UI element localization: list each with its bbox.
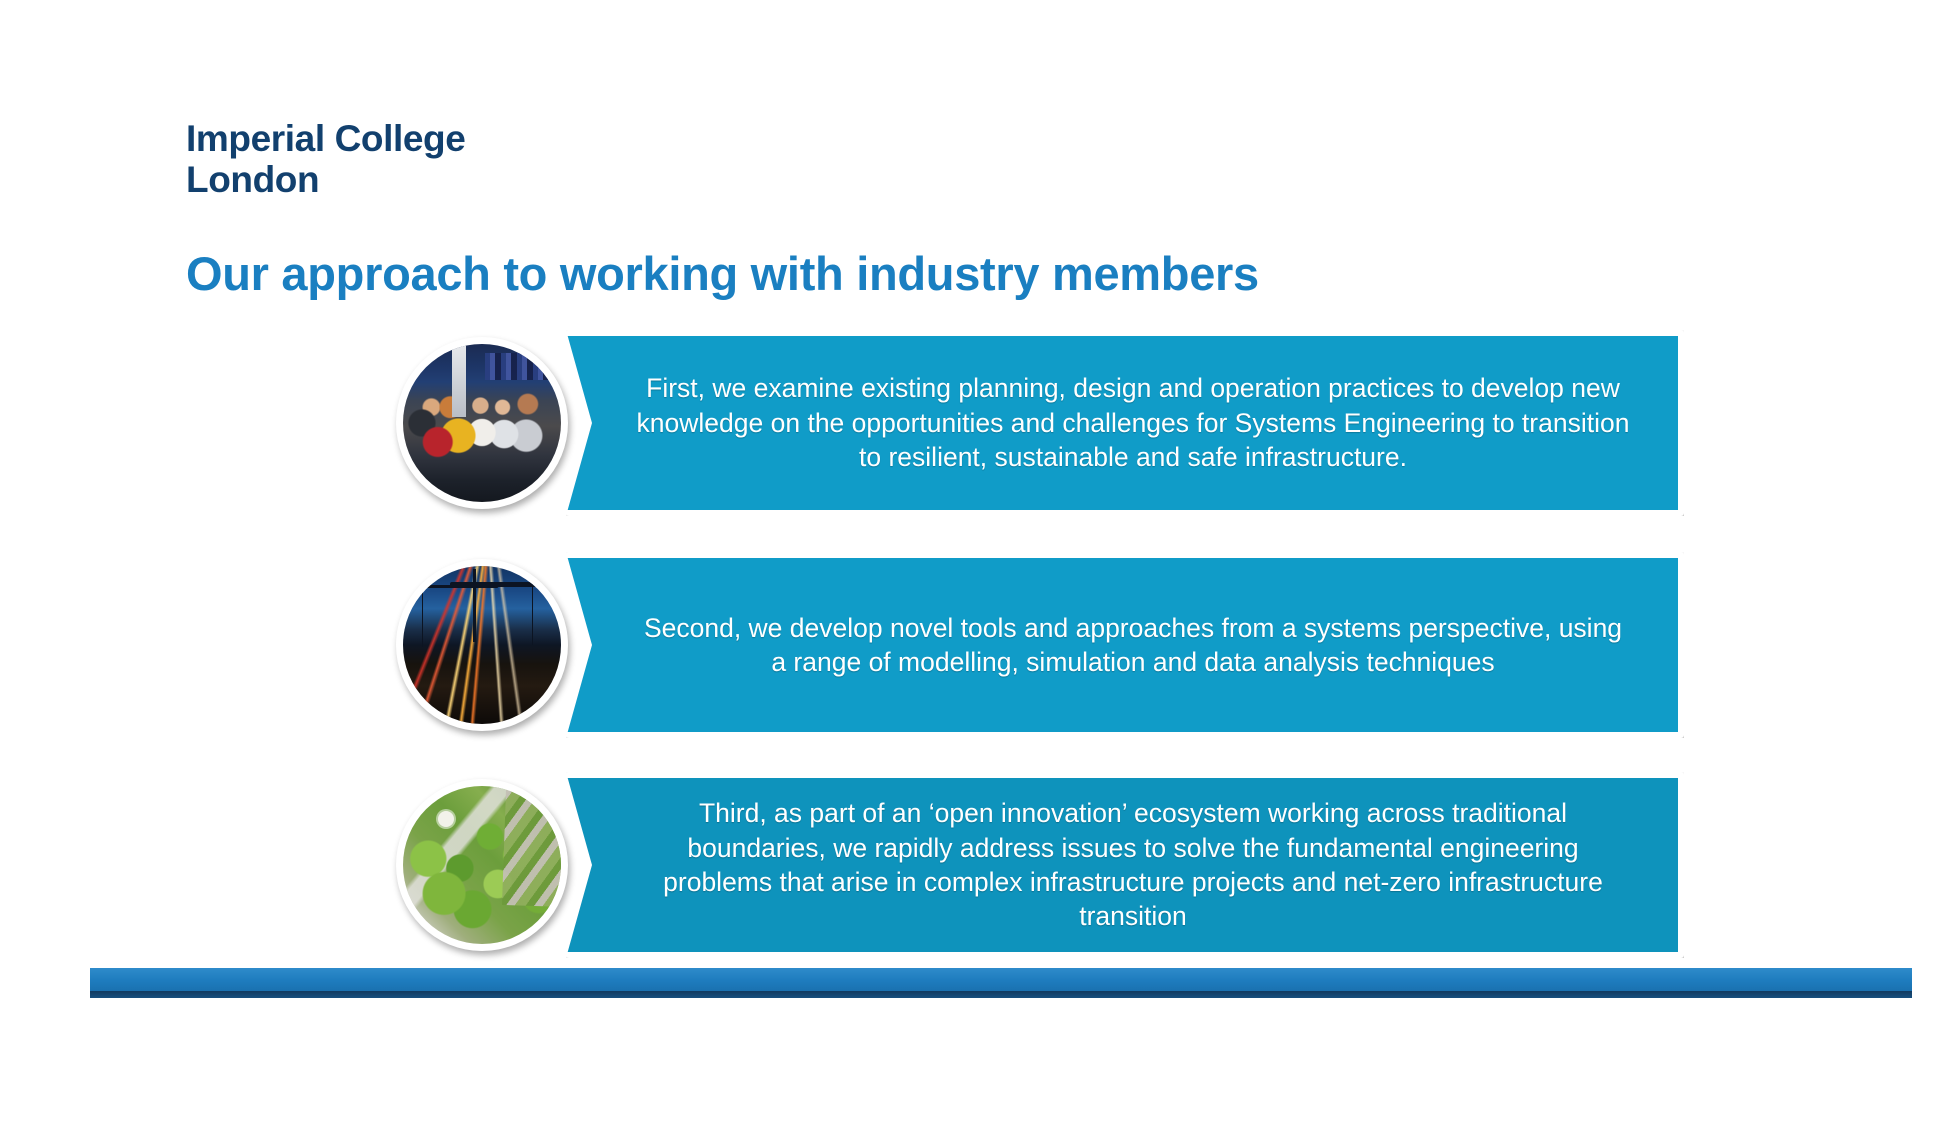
page-title: Our approach to working with industry me… [186, 246, 1259, 301]
approach-point-banner: Second, we develop novel tools and appro… [566, 552, 1684, 738]
footer-accent-bar-shadow [90, 991, 1912, 998]
green-urban-aerial-photo [403, 786, 561, 944]
photo-clip [403, 344, 561, 502]
approach-point-photo [396, 559, 568, 731]
footer-accent-bar [90, 968, 1912, 991]
banner-surface: First, we examine existing planning, des… [566, 336, 1678, 510]
crowd-exhibition-photo [403, 344, 561, 502]
photo-clip [403, 566, 561, 724]
imperial-college-london-logo: Imperial College London [186, 118, 465, 201]
approach-point-text: Third, as part of an ‘open innovation’ e… [566, 796, 1678, 934]
slide-canvas: Imperial College London Our approach to … [0, 0, 1934, 1144]
approach-point-row: Third, as part of an ‘open innovation’ e… [396, 772, 1686, 958]
approach-point-photo [396, 779, 568, 951]
approach-point-text: First, we examine existing planning, des… [566, 371, 1678, 474]
banner-surface: Third, as part of an ‘open innovation’ e… [566, 778, 1678, 952]
approach-point-photo [396, 337, 568, 509]
motorway-light-trails-photo [403, 566, 561, 724]
banner-surface: Second, we develop novel tools and appro… [566, 558, 1678, 732]
approach-point-banner: Third, as part of an ‘open innovation’ e… [566, 772, 1684, 958]
approach-point-banner: First, we examine existing planning, des… [566, 330, 1684, 516]
approach-point-row: First, we examine existing planning, des… [396, 330, 1686, 516]
photo-clip [403, 786, 561, 944]
approach-point-row: Second, we develop novel tools and appro… [396, 552, 1686, 738]
approach-point-text: Second, we develop novel tools and appro… [566, 611, 1678, 680]
